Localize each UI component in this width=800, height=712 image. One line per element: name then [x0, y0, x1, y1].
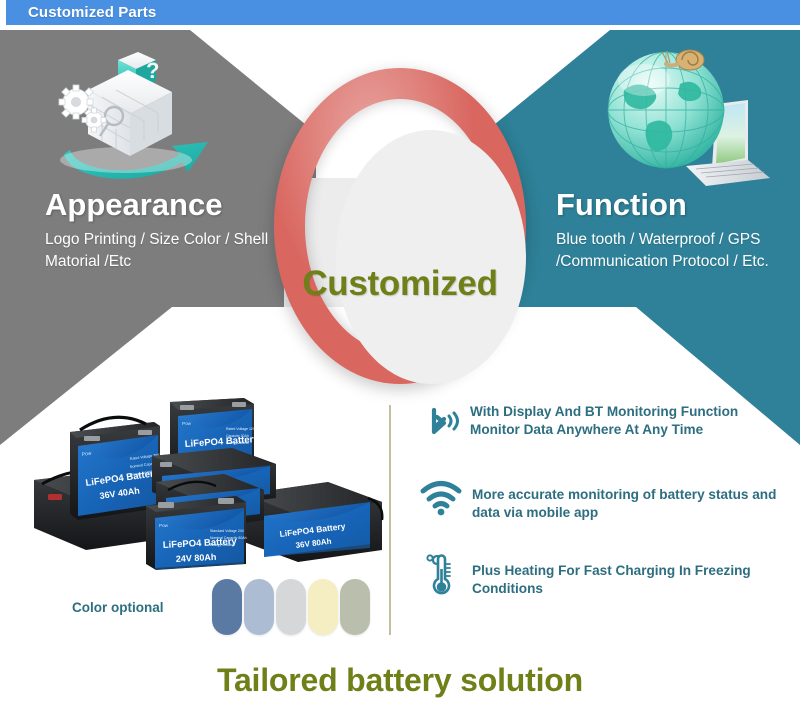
svg-text:Pow: Pow: [159, 523, 169, 528]
appearance-heading: Appearance: [45, 188, 285, 221]
color-swatch-slate-blue[interactable]: [212, 579, 242, 635]
feature-text-bluetooth: With Display And BT Monitoring Function …: [464, 398, 788, 438]
color-swatch-sage-green[interactable]: [340, 579, 370, 635]
package-customization-illustration: ?: [30, 42, 240, 187]
svg-text:Energy Suitable: Energy Suitable: [210, 543, 235, 547]
svg-text:Nominal Capacity 80Ah: Nominal Capacity 80Ah: [210, 536, 247, 540]
feature-item-wifi: More accurate monitoring of battery stat…: [418, 474, 788, 521]
bluetooth-icon: [418, 398, 464, 444]
feature-text-heating: Plus Heating For Fast Charging In Freezi…: [464, 551, 788, 597]
svg-text:Capacity 20Ah: Capacity 20Ah: [226, 434, 249, 438]
svg-text:Rated Voltage 12V: Rated Voltage 12V: [226, 427, 256, 431]
svg-text:Energy 256Wh: Energy 256Wh: [226, 441, 249, 445]
svg-text:Standard Voltage 24V: Standard Voltage 24V: [210, 529, 245, 533]
function-text-block: Function Blue tooth / Waterproof / GPS /…: [556, 188, 796, 272]
feature-item-heating: Plus Heating For Fast Charging In Freezi…: [418, 551, 788, 597]
color-swatch-light-blue-gray[interactable]: [244, 579, 274, 635]
color-optional-label: Color optional: [72, 600, 212, 615]
ring-inner-circle: [336, 130, 526, 384]
thermometer-icon: [418, 551, 464, 597]
vertical-divider: [389, 405, 391, 635]
customized-label: Customized: [274, 264, 526, 304]
color-swatch-strip: [212, 579, 370, 635]
appearance-text-block: Appearance Logo Printing / Size Color / …: [45, 188, 285, 272]
battery-product-photo: LiFePO4 Battery 36V 80Ah Pow LiFePO4 Bat…: [18, 398, 390, 570]
color-swatch-pale-yellow[interactable]: [308, 579, 338, 635]
svg-text:Pow: Pow: [182, 421, 192, 426]
customized-ring: Customized: [274, 68, 526, 384]
function-body: Blue tooth / Waterproof / GPS /Communica…: [556, 229, 796, 271]
header-banner: Customized Parts: [6, 0, 800, 25]
feature-item-bluetooth: With Display And BT Monitoring Function …: [418, 398, 788, 444]
color-swatch-light-gray[interactable]: [276, 579, 306, 635]
feature-list: With Display And BT Monitoring Function …: [418, 398, 788, 628]
tagline: Tailored battery solution: [0, 662, 800, 699]
svg-text:?: ?: [146, 58, 159, 83]
color-options: Color optional: [72, 578, 382, 636]
svg-text:24V 80Ah: 24V 80Ah: [176, 552, 217, 564]
appearance-body: Logo Printing / Size Color / Shell Mator…: [45, 229, 285, 271]
page-title: Customized Parts: [28, 4, 156, 21]
ring-torus: [274, 68, 526, 384]
globe-laptop-illustration: [588, 38, 793, 188]
feature-text-wifi: More accurate monitoring of battery stat…: [464, 474, 788, 521]
wifi-icon: [418, 474, 464, 520]
function-heading: Function: [556, 188, 796, 221]
